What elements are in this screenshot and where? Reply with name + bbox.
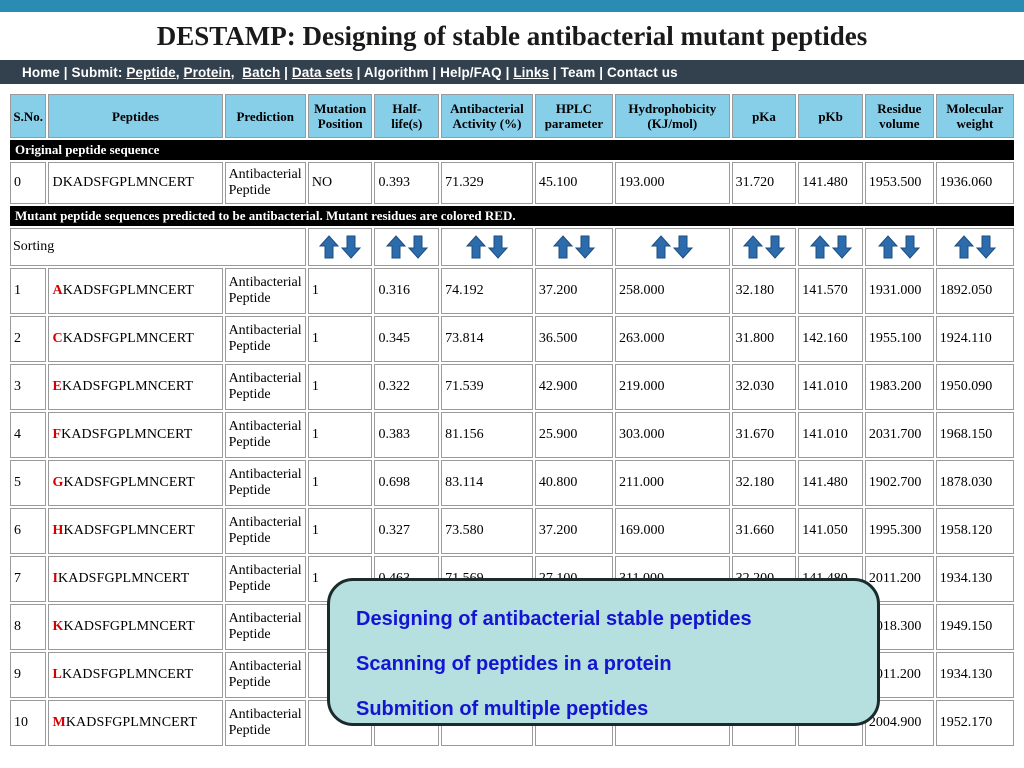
nav-item-batch[interactable]: Batch <box>242 65 280 80</box>
cell-hydrophobicity: 169.000 <box>615 508 730 554</box>
table-row: 3 EKADSFGPLMNCERT Antibacterial Peptide … <box>10 364 1014 410</box>
arrow-up-icon[interactable] <box>465 238 487 253</box>
cell-molecular-weight: 1958.120 <box>936 508 1014 554</box>
cell-prediction: Antibacterial Peptide <box>225 162 306 204</box>
sort-controls-pkb[interactable] <box>798 228 863 266</box>
nav-item-home[interactable]: Home <box>22 65 60 80</box>
cell-sno: 6 <box>10 508 46 554</box>
mutant-residue: E <box>52 379 61 394</box>
arrow-up-icon[interactable] <box>809 238 831 253</box>
cell-peptide-sequence: FKADSFGPLMNCERT <box>48 412 222 458</box>
col-header-antibacterial-activity[interactable]: Antibacterial Activity (%) <box>441 94 533 138</box>
cell-hplc: 40.800 <box>535 460 613 506</box>
cell-peptide-sequence: EKADSFGPLMNCERT <box>48 364 222 410</box>
mutant-residue: L <box>52 667 61 682</box>
cell-molecular-weight: 1924.110 <box>936 316 1014 362</box>
arrow-down-icon[interactable] <box>975 238 997 253</box>
cell-pkb: 142.160 <box>798 316 863 362</box>
mutant-residue: A <box>52 283 62 298</box>
cell-pkb: 141.010 <box>798 364 863 410</box>
table-header-row: S.No. Peptides Prediction Mutation Posit… <box>10 94 1014 138</box>
sort-controls-antibacterial-activity[interactable] <box>441 228 533 266</box>
cell-residue-volume: 1955.100 <box>865 316 934 362</box>
cell-molecular-weight: 1968.150 <box>936 412 1014 458</box>
sorting-label: Sorting <box>10 228 306 266</box>
col-header-pka[interactable]: pKa <box>732 94 797 138</box>
cell-sno: 10 <box>10 700 46 746</box>
cell-mutation-position: 1 <box>308 460 373 506</box>
arrow-down-icon[interactable] <box>407 238 429 253</box>
cell-sno: 3 <box>10 364 46 410</box>
sort-controls-mutation-position[interactable] <box>308 228 373 266</box>
arrow-up-icon[interactable] <box>552 238 574 253</box>
cell-residue-volume: 1995.300 <box>865 508 934 554</box>
cell-prediction: Antibacterial Peptide <box>225 604 306 650</box>
cell-molecular-weight: 1936.060 <box>936 162 1014 204</box>
nav-item-algorithm[interactable]: Algorithm <box>364 65 429 80</box>
cell-antibacterial-activity: 74.192 <box>441 268 533 314</box>
cell-molecular-weight: 1878.030 <box>936 460 1014 506</box>
sequence-rest: KADSFGPLMNCERT <box>58 571 189 586</box>
cell-antibacterial-activity: 71.329 <box>441 162 533 204</box>
table-row: 4 FKADSFGPLMNCERT Antibacterial Peptide … <box>10 412 1014 458</box>
cell-hplc: 25.900 <box>535 412 613 458</box>
callout-line-submition[interactable]: Submition of multiple peptides <box>356 687 877 732</box>
page-title: DESTAMP: Designing of stable antibacteri… <box>157 21 868 52</box>
cell-sno: 8 <box>10 604 46 650</box>
mutant-residue: F <box>52 427 61 442</box>
cell-antibacterial-activity: 71.539 <box>441 364 533 410</box>
col-header-mutation-position[interactable]: Mutation Position <box>308 94 373 138</box>
table-row: 5 GKADSFGPLMNCERT Antibacterial Peptide … <box>10 460 1014 506</box>
callout-line-designing[interactable]: Designing of antibacterial stable peptid… <box>356 597 877 642</box>
feature-callout-box: Designing of antibacterial stable peptid… <box>327 578 880 726</box>
cell-sno: 5 <box>10 460 46 506</box>
cell-prediction: Antibacterial Peptide <box>225 700 306 746</box>
nav-items: Home | Submit: Peptide, Protein, Batch |… <box>22 65 678 80</box>
cell-peptide-sequence: IKADSFGPLMNCERT <box>48 556 222 602</box>
cell-prediction: Antibacterial Peptide <box>225 556 306 602</box>
nav-item-data-sets[interactable]: Data sets <box>292 65 353 80</box>
col-header-peptides[interactable]: Peptides <box>48 94 222 138</box>
arrow-down-icon[interactable] <box>672 238 694 253</box>
cell-pka: 31.800 <box>732 316 797 362</box>
cell-peptide-sequence: GKADSFGPLMNCERT <box>48 460 222 506</box>
banner-mutant-label: Mutant peptide sequences predicted to be… <box>10 206 1014 226</box>
cell-peptide-sequence: HKADSFGPLMNCERT <box>48 508 222 554</box>
cell-sno: 1 <box>10 268 46 314</box>
cell-half-life: 0.383 <box>374 412 439 458</box>
nav-item-peptide[interactable]: Peptide <box>126 65 175 80</box>
arrow-down-icon[interactable] <box>899 238 921 253</box>
cell-peptide-sequence: AKADSFGPLMNCERT <box>48 268 222 314</box>
cell-mutation-position: NO <box>308 162 373 204</box>
cell-peptide-sequence: KKADSFGPLMNCERT <box>48 604 222 650</box>
table-row-original: 0 DKADSFGPLMNCERT Antibacterial Peptide … <box>10 162 1014 204</box>
cell-peptide-sequence: DKADSFGPLMNCERT <box>48 162 222 204</box>
cell-half-life: 0.345 <box>374 316 439 362</box>
cell-sno: 7 <box>10 556 46 602</box>
cell-hplc: 37.200 <box>535 268 613 314</box>
col-header-hplc-parameter[interactable]: HPLC parameter <box>535 94 613 138</box>
arrow-down-icon[interactable] <box>340 238 362 253</box>
cell-pkb: 141.480 <box>798 460 863 506</box>
sort-controls-pka[interactable] <box>732 228 797 266</box>
cell-mutation-position: 1 <box>308 364 373 410</box>
cell-half-life: 0.322 <box>374 364 439 410</box>
col-header-hydrophobicity[interactable]: Hydrophobicity (KJ/mol) <box>615 94 730 138</box>
nav-item-team[interactable]: Team <box>561 65 596 80</box>
cell-pka: 31.670 <box>732 412 797 458</box>
cell-mutation-position: 1 <box>308 316 373 362</box>
cell-molecular-weight: 1949.150 <box>936 604 1014 650</box>
cell-hydrophobicity: 211.000 <box>615 460 730 506</box>
title-band: DESTAMP: Designing of stable antibacteri… <box>0 12 1024 60</box>
cell-prediction: Antibacterial Peptide <box>225 652 306 698</box>
cell-pkb: 141.480 <box>798 162 863 204</box>
mutant-residue: C <box>52 331 62 346</box>
arrow-down-icon[interactable] <box>764 238 786 253</box>
table-row-sorting: Sorting <box>10 228 1014 266</box>
cell-molecular-weight: 1950.090 <box>936 364 1014 410</box>
cell-residue-volume: 1953.500 <box>865 162 934 204</box>
mutant-residue: M <box>52 715 65 730</box>
cell-prediction: Antibacterial Peptide <box>225 508 306 554</box>
sequence-rest: KADSFGPLMNCERT <box>63 331 194 346</box>
cell-mutation-position: 1 <box>308 508 373 554</box>
cell-molecular-weight: 1952.170 <box>936 700 1014 746</box>
cell-residue-volume: 1931.000 <box>865 268 934 314</box>
cell-antibacterial-activity: 81.156 <box>441 412 533 458</box>
cell-molecular-weight: 1934.130 <box>936 652 1014 698</box>
cell-antibacterial-activity: 73.814 <box>441 316 533 362</box>
cell-half-life: 0.316 <box>374 268 439 314</box>
cell-pkb: 141.570 <box>798 268 863 314</box>
cell-hydrophobicity: 303.000 <box>615 412 730 458</box>
sequence-rest: KADSFGPLMNCERT <box>66 715 197 730</box>
cell-hplc: 45.100 <box>535 162 613 204</box>
arrow-up-icon[interactable] <box>385 238 407 253</box>
banner-mutant-sequences: Mutant peptide sequences predicted to be… <box>10 206 1014 226</box>
cell-pkb: 141.010 <box>798 412 863 458</box>
cell-hydrophobicity: 258.000 <box>615 268 730 314</box>
sequence-rest: KADSFGPLMNCERT <box>61 427 192 442</box>
arrow-up-icon[interactable] <box>877 238 899 253</box>
col-header-prediction[interactable]: Prediction <box>225 94 306 138</box>
mutant-residue: G <box>52 475 63 490</box>
main-navigation[interactable]: Home | Submit: Peptide, Protein, Batch |… <box>0 60 1024 84</box>
sequence-rest: KADSFGPLMNCERT <box>63 283 194 298</box>
mutant-residue: H <box>52 523 63 538</box>
nav-item-help-faq[interactable]: Help/FAQ <box>440 65 502 80</box>
sort-controls-residue-volume[interactable] <box>865 228 934 266</box>
arrow-up-icon[interactable] <box>318 238 340 253</box>
col-header-molecular-weight[interactable]: Molecular weight <box>936 94 1014 138</box>
table-row: 6 HKADSFGPLMNCERT Antibacterial Peptide … <box>10 508 1014 554</box>
cell-sno: 4 <box>10 412 46 458</box>
cell-half-life: 0.698 <box>374 460 439 506</box>
cell-hydrophobicity: 193.000 <box>615 162 730 204</box>
cell-sno: 2 <box>10 316 46 362</box>
nav-item-contact-us[interactable]: Contact us <box>607 65 678 80</box>
cell-pka: 32.180 <box>732 268 797 314</box>
col-header-residue-volume[interactable]: Residue volume <box>865 94 934 138</box>
col-header-sno[interactable]: S.No. <box>10 94 46 138</box>
cell-pka: 32.030 <box>732 364 797 410</box>
sequence-rest: KADSFGPLMNCERT <box>63 523 194 538</box>
table-row: 2 CKADSFGPLMNCERT Antibacterial Peptide … <box>10 316 1014 362</box>
cell-mutation-position: 1 <box>308 412 373 458</box>
cell-residue-volume: 1902.700 <box>865 460 934 506</box>
sort-controls-molecular-weight[interactable] <box>936 228 1014 266</box>
cell-peptide-sequence: CKADSFGPLMNCERT <box>48 316 222 362</box>
callout-line-scanning[interactable]: Scanning of peptides in a protein <box>356 642 877 687</box>
col-header-half-life[interactable]: Half-life(s) <box>374 94 439 138</box>
banner-original-sequence: Original peptide sequence <box>10 140 1014 160</box>
arrow-up-icon[interactable] <box>953 238 975 253</box>
cell-prediction: Antibacterial Peptide <box>225 316 306 362</box>
cell-antibacterial-activity: 83.114 <box>441 460 533 506</box>
banner-original-label: Original peptide sequence <box>10 140 1014 160</box>
cell-residue-volume: 2031.700 <box>865 412 934 458</box>
cell-hplc: 42.900 <box>535 364 613 410</box>
cell-prediction: Antibacterial Peptide <box>225 268 306 314</box>
cell-pka: 32.180 <box>732 460 797 506</box>
nav-item-protein[interactable]: Protein <box>184 65 231 80</box>
cell-half-life: 0.393 <box>374 162 439 204</box>
cell-mutation-position: 1 <box>308 268 373 314</box>
mutant-residue: K <box>52 619 63 634</box>
arrow-down-icon[interactable] <box>487 238 509 253</box>
cell-prediction: Antibacterial Peptide <box>225 460 306 506</box>
sequence-rest: KADSFGPLMNCERT <box>62 379 193 394</box>
cell-antibacterial-activity: 73.580 <box>441 508 533 554</box>
cell-sno: 0 <box>10 162 46 204</box>
sequence-rest: DKADSFGPLMNCERT <box>52 175 193 190</box>
cell-pka: 31.660 <box>732 508 797 554</box>
table-row: 1 AKADSFGPLMNCERT Antibacterial Peptide … <box>10 268 1014 314</box>
cell-peptide-sequence: MKADSFGPLMNCERT <box>48 700 222 746</box>
sequence-rest: KADSFGPLMNCERT <box>63 475 194 490</box>
col-header-pkb[interactable]: pKb <box>798 94 863 138</box>
sort-controls-half-life[interactable] <box>374 228 439 266</box>
cell-hydrophobicity: 263.000 <box>615 316 730 362</box>
sequence-rest: KADSFGPLMNCERT <box>62 667 193 682</box>
cell-hplc: 37.200 <box>535 508 613 554</box>
arrow-up-icon[interactable] <box>742 238 764 253</box>
sort-controls-hydrophobicity[interactable] <box>615 228 730 266</box>
cell-prediction: Antibacterial Peptide <box>225 412 306 458</box>
arrow-down-icon[interactable] <box>574 238 596 253</box>
cell-half-life: 0.327 <box>374 508 439 554</box>
sequence-rest: KADSFGPLMNCERT <box>63 619 194 634</box>
sort-controls-hplc[interactable] <box>535 228 613 266</box>
cell-sno: 9 <box>10 652 46 698</box>
cell-residue-volume: 1983.200 <box>865 364 934 410</box>
cell-hydrophobicity: 219.000 <box>615 364 730 410</box>
accent-top-bar <box>0 0 1024 12</box>
cell-molecular-weight: 1934.130 <box>936 556 1014 602</box>
nav-item-links[interactable]: Links <box>513 65 549 80</box>
cell-pka: 31.720 <box>732 162 797 204</box>
arrow-up-icon[interactable] <box>650 238 672 253</box>
nav-label-submit: Submit: <box>72 65 123 80</box>
cell-molecular-weight: 1892.050 <box>936 268 1014 314</box>
cell-pkb: 141.050 <box>798 508 863 554</box>
arrow-down-icon[interactable] <box>831 238 853 253</box>
cell-prediction: Antibacterial Peptide <box>225 364 306 410</box>
cell-hplc: 36.500 <box>535 316 613 362</box>
cell-peptide-sequence: LKADSFGPLMNCERT <box>48 652 222 698</box>
